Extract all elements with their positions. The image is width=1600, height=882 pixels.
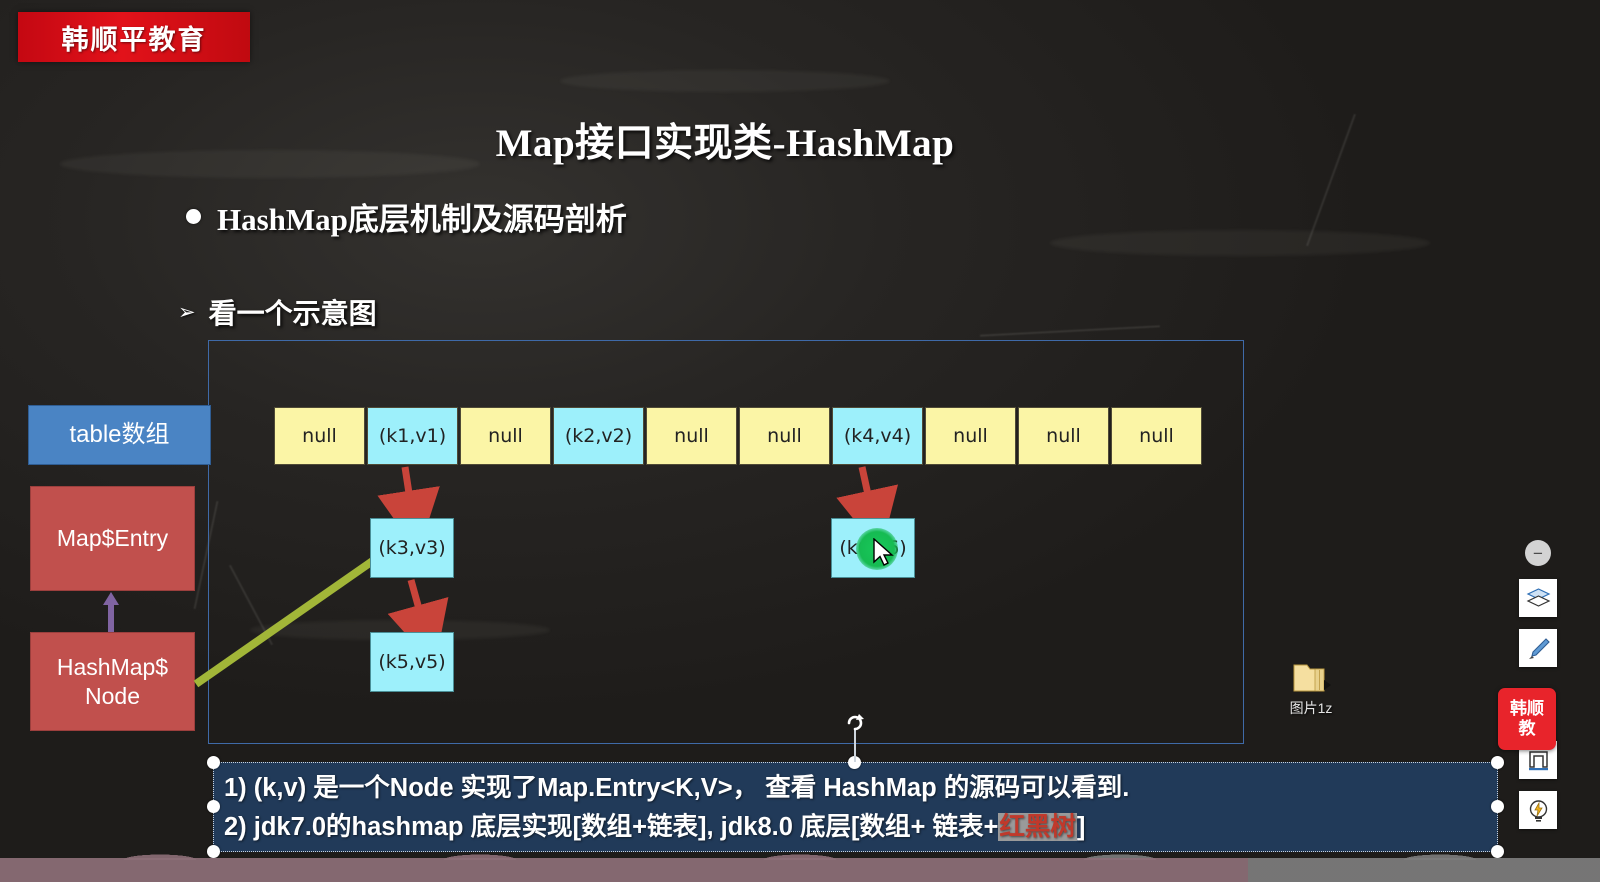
array-cell[interactable]: null	[646, 407, 737, 465]
desktop-file-icon-label: 图片1z	[1290, 698, 1333, 718]
mouse-cursor-move-icon	[872, 538, 906, 572]
selection-handle-mr[interactable]	[1491, 800, 1504, 813]
brand-logo-badge: 韩顺平教育	[18, 12, 250, 62]
array-cell[interactable]: (k2,v2)	[553, 407, 644, 465]
diagram-frame	[208, 340, 1244, 744]
legend-box-table-array-label: table数组	[69, 420, 169, 449]
chalk-smudge	[560, 70, 890, 92]
array-cell[interactable]: null	[925, 407, 1016, 465]
selection-handle-ml[interactable]	[207, 800, 220, 813]
bullet-sub: ➢ 看一个示意图	[178, 292, 377, 332]
caption-line-2-pre: 2) jdk7.0的hashmap 底层实现[数组+链表], jdk8.0 底层…	[224, 813, 998, 841]
page-title: Map接口实现类-HashMap	[0, 112, 1450, 168]
desktop-file-icon[interactable]: 图片1z	[1266, 660, 1356, 718]
rotate-handle-icon[interactable]	[845, 712, 865, 732]
bullet-main-label: HashMap底层机制及源码剖析	[217, 194, 627, 239]
legend-box-hashmap-node-label-1: HashMap$	[57, 653, 168, 681]
caption-highlight-redblacktree: 红黑树	[998, 813, 1077, 841]
bullet-main: HashMap底层机制及源码剖析	[186, 194, 627, 239]
slide-canvas: 韩顺平教育 Map接口实现类-HashMap HashMap底层机制及源码剖析 …	[0, 0, 1600, 882]
array-cell[interactable]: null	[1018, 407, 1109, 465]
array-cell[interactable]: null	[1111, 407, 1202, 465]
chalk-smudge	[1050, 230, 1430, 256]
array-cell[interactable]: null	[460, 407, 551, 465]
array-cell[interactable]: (k4,v4)	[832, 407, 923, 465]
node-box-k5[interactable]: (k5,v5)	[370, 632, 454, 692]
minus-icon: −	[1533, 545, 1543, 562]
toolbar-brand-line-2: 教	[1519, 719, 1536, 739]
toolbar-brush-button[interactable]	[1519, 629, 1557, 667]
bullet-dot-icon	[186, 209, 201, 224]
selection-handle-tl[interactable]	[207, 756, 220, 769]
legend-box-hashmap-node[interactable]: HashMap$ Node	[30, 632, 195, 731]
taskbar[interactable]	[0, 858, 1600, 882]
node-box-k3[interactable]: (k3,v3)	[370, 518, 454, 578]
brush-icon	[1526, 636, 1551, 661]
chalk-streak	[980, 325, 1160, 336]
table-array-row: null (k1,v1) null (k2,v2) null null (k4,…	[274, 407, 1204, 465]
brand-logo-text: 韩顺平教育	[62, 18, 207, 57]
bullet-sub-label: 看一个示意图	[209, 292, 377, 332]
array-cell[interactable]: null	[274, 407, 365, 465]
right-toolbar: − 韩顺 教	[1518, 540, 1558, 841]
toolbar-brand-line-1: 韩顺	[1510, 699, 1544, 719]
inheritance-arrow-icon	[103, 592, 119, 632]
caption-line-2: 2) jdk7.0的hashmap 底层实现[数组+链表], jdk8.0 底层…	[224, 808, 1487, 847]
toolbar-layers-button[interactable]	[1519, 579, 1557, 617]
legend-box-table-array[interactable]: table数组	[28, 405, 211, 465]
whiteboard-icon	[1526, 748, 1551, 773]
chevron-right-icon: ➢	[178, 302, 196, 323]
toolbar-minimize-button[interactable]: −	[1525, 540, 1551, 566]
caption-textbox[interactable]: 1) (k,v) 是一个Node 实现了Map.Entry<K,V>， 查看 H…	[213, 762, 1498, 852]
lightbulb-icon	[1526, 798, 1551, 823]
legend-box-hashmap-node-label-2: Node	[85, 682, 140, 710]
folder-icon	[1291, 660, 1331, 696]
rotate-handle-stem	[854, 730, 856, 762]
selection-handle-tr[interactable]	[1491, 756, 1504, 769]
array-cell[interactable]: null	[739, 407, 830, 465]
legend-box-map-entry[interactable]: Map$Entry	[30, 486, 195, 591]
toolbar-brand-button[interactable]: 韩顺 教	[1498, 688, 1556, 750]
array-cell[interactable]: (k1,v1)	[367, 407, 458, 465]
caption-line-1: 1) (k,v) 是一个Node 实现了Map.Entry<K,V>， 查看 H…	[224, 769, 1487, 808]
toolbar-idea-button[interactable]	[1519, 791, 1557, 829]
node-box-k3-label: (k3,v3)	[378, 537, 445, 559]
legend-box-map-entry-label: Map$Entry	[57, 524, 168, 552]
layers-icon	[1526, 586, 1551, 611]
node-box-k5-label: (k5,v5)	[378, 651, 445, 673]
caption-line-2-post: ]	[1077, 813, 1086, 841]
